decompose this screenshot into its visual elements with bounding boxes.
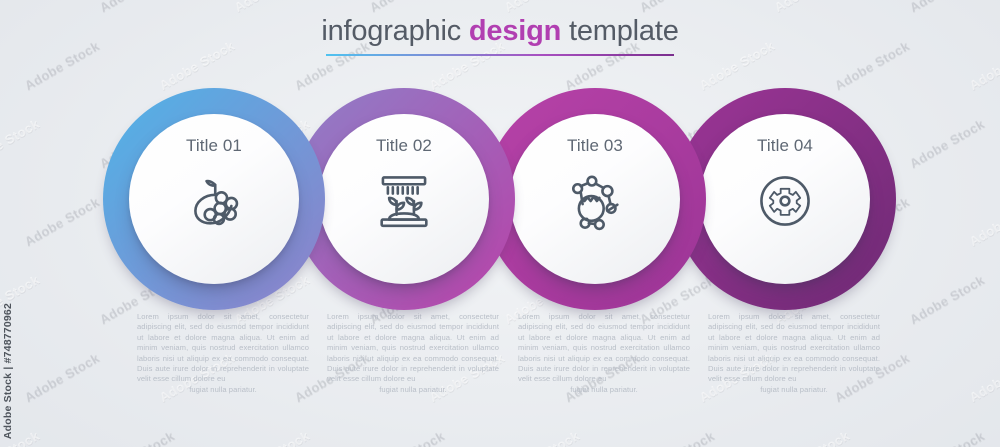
description-last-line: fugiat nulla pariatur. — [708, 385, 880, 395]
irrigation-seedling-icon — [370, 170, 438, 232]
watermark-tile: Adobe Stock — [637, 428, 717, 447]
watermark-tile: Adobe Stock — [772, 0, 852, 15]
watermark-tile: Adobe Stock — [367, 428, 447, 447]
steps-row: Title 01 Title 02 Title 03 — [0, 88, 1000, 313]
step-description-3: Lorem ipsum dolor sit amet, consectetur … — [518, 312, 690, 395]
watermark-tile: Adobe Stock — [637, 0, 717, 15]
watermark-tile: Adobe Stock — [97, 0, 177, 15]
grapes-fruit-icon — [180, 170, 248, 232]
description-body: Lorem ipsum dolor sit amet, consectetur … — [518, 312, 690, 383]
title-suffix: template — [561, 15, 679, 47]
watermark-tile: Adobe Stock — [502, 428, 582, 447]
description-body: Lorem ipsum dolor sit amet, consectetur … — [137, 312, 309, 383]
page-title: infographic design template — [0, 14, 1000, 48]
title-accent: design — [469, 15, 561, 47]
step-2[interactable]: Title 02 — [293, 88, 515, 310]
watermark-tile: Adobe Stock — [367, 0, 447, 15]
description-last-line: fugiat nulla pariatur. — [518, 385, 690, 395]
infographic-canvas: Adobe StockAdobe StockAdobe StockAdobe S… — [0, 0, 1000, 447]
description-body: Lorem ipsum dolor sit amet, consectetur … — [327, 312, 499, 383]
step-title-2: Title 02 — [376, 136, 432, 156]
watermark-tile: Adobe Stock — [907, 0, 987, 15]
title-prefix: infographic — [321, 15, 469, 47]
watermark-tile: Adobe Stock — [502, 0, 582, 15]
description-last-line: fugiat nulla pariatur. — [327, 385, 499, 395]
step-description-4: Lorem ipsum dolor sit amet, consectetur … — [708, 312, 880, 395]
description-body: Lorem ipsum dolor sit amet, consectetur … — [708, 312, 880, 383]
stock-watermark-label: Adobe Stock | #748770962 — [2, 303, 14, 439]
header-underline — [326, 54, 674, 56]
step-title-1: Title 01 — [186, 136, 242, 156]
step-title-3: Title 03 — [567, 136, 623, 156]
molecule-tomato-gmo-icon — [561, 170, 629, 232]
step-card-2[interactable]: Title 02 — [319, 114, 489, 284]
step-1[interactable]: Title 01 — [103, 88, 325, 310]
watermark-tile: Adobe Stock — [772, 428, 852, 447]
step-card-1[interactable]: Title 01 — [129, 114, 299, 284]
step-card-4[interactable]: Title 04 — [700, 114, 870, 284]
watermark-tile: Adobe Stock — [232, 0, 312, 15]
header: infographic design template — [0, 14, 1000, 56]
step-title-4: Title 04 — [757, 136, 813, 156]
watermark-tile: Adobe Stock — [232, 428, 312, 447]
step-description-2: Lorem ipsum dolor sit amet, consectetur … — [327, 312, 499, 395]
watermark-tile: Adobe Stock — [907, 428, 987, 447]
step-description-1: Lorem ipsum dolor sit amet, consectetur … — [137, 312, 309, 395]
step-3[interactable]: Title 03 — [484, 88, 706, 310]
step-card-3[interactable]: Title 03 — [510, 114, 680, 284]
watermark-tile: Adobe Stock — [0, 0, 42, 15]
descriptions-row: Lorem ipsum dolor sit amet, consectetur … — [0, 312, 1000, 422]
gear-in-circle-icon — [751, 170, 819, 232]
step-4[interactable]: Title 04 — [674, 88, 896, 310]
description-last-line: fugiat nulla pariatur. — [137, 385, 309, 395]
watermark-tile: Adobe Stock — [97, 428, 177, 447]
